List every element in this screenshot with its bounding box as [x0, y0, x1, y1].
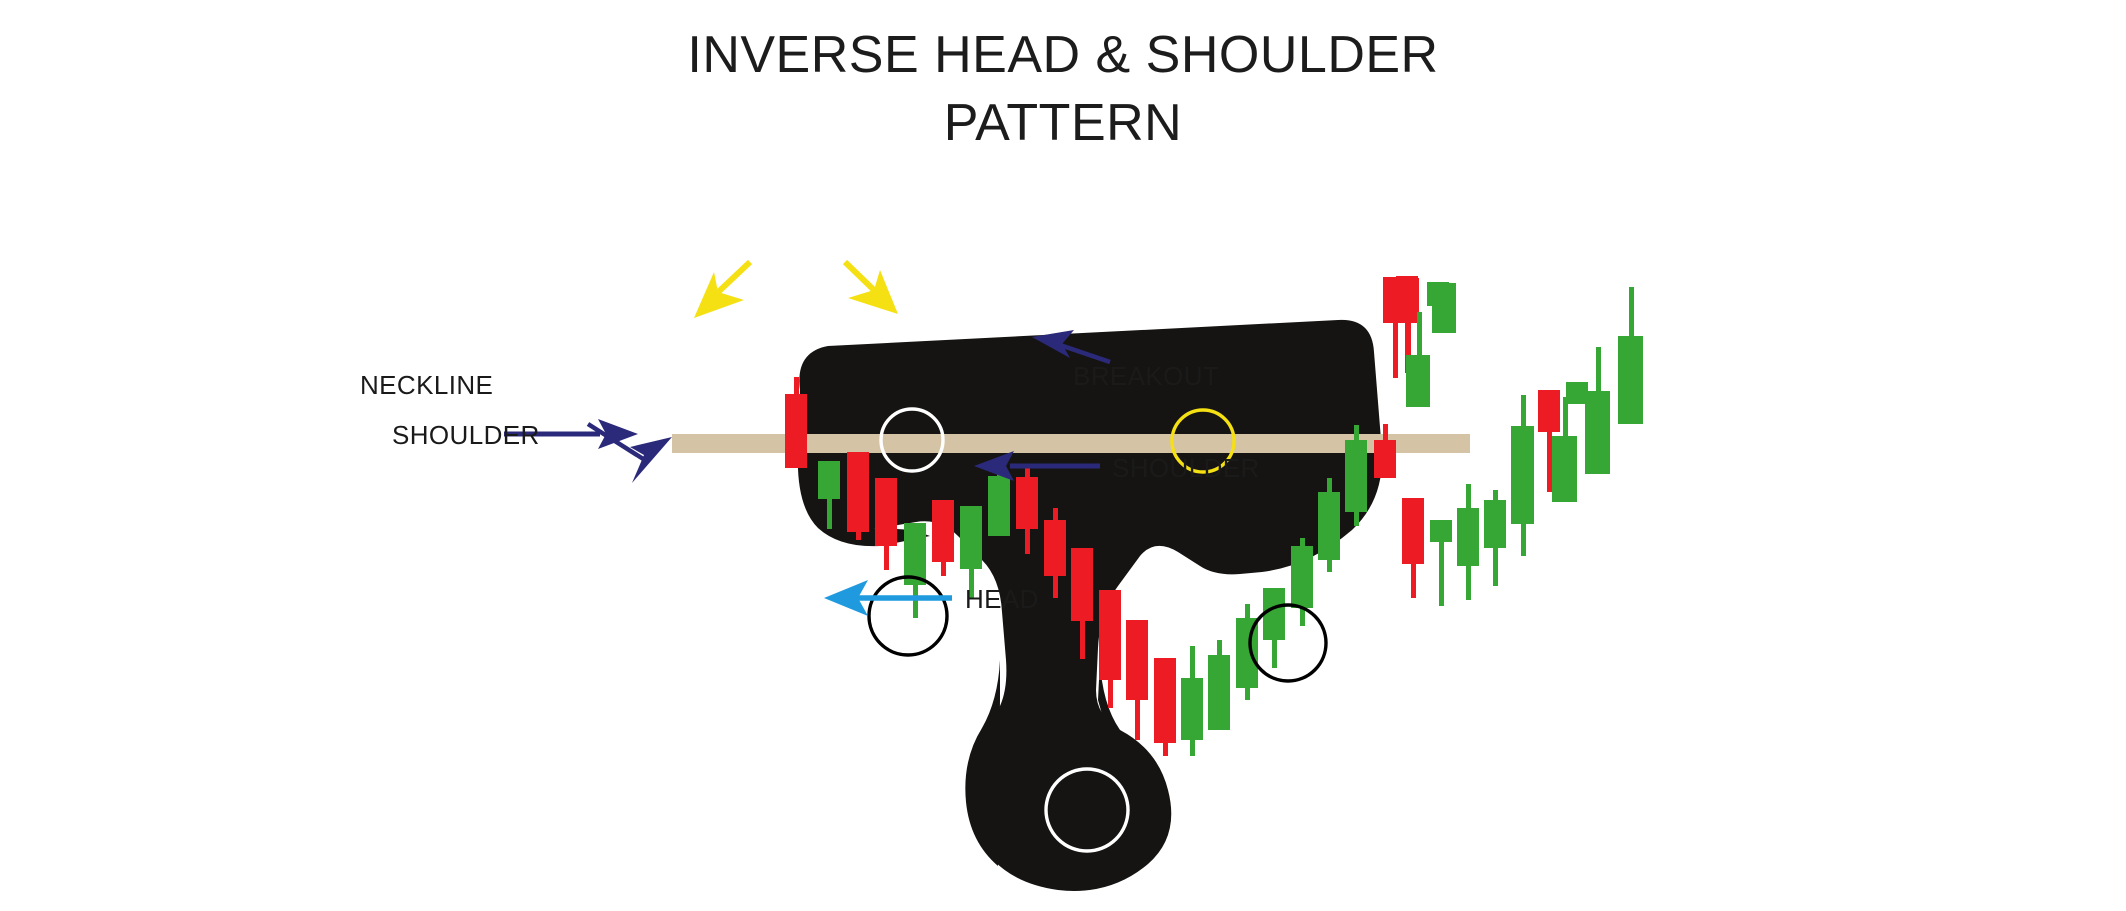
candle-breakout [1511, 395, 1534, 556]
resistance-label: RESISTANCE [789, 224, 972, 255]
shoulder-right-low-circle [1250, 605, 1326, 681]
candle [932, 500, 954, 576]
pattern-diagram: RESISTANCE NECKLINE BREAKOUT SHOULDER SH… [0, 0, 2126, 911]
far-rally [1552, 287, 1643, 502]
candle-body [1618, 336, 1643, 424]
candle [1566, 382, 1588, 404]
candle [1432, 283, 1456, 333]
candle-body [1552, 436, 1577, 502]
candle [1345, 425, 1367, 526]
candle [1484, 490, 1506, 586]
resistance-arrow-left [694, 262, 750, 318]
candle [1263, 588, 1285, 668]
candle [1181, 646, 1203, 756]
shoulder-right-label: SHOULDER [1112, 453, 1260, 483]
candle [1154, 658, 1176, 756]
candle [1430, 520, 1452, 606]
candle [875, 478, 897, 570]
candle [847, 452, 869, 540]
silhouette-head-left-bulge [965, 660, 1000, 866]
resistance-arrow-right [845, 262, 898, 314]
shoulder-left-label: SHOULDER [392, 420, 540, 450]
post-breakout-candles [1383, 277, 1456, 407]
candle-body [1585, 391, 1610, 474]
candle [1126, 620, 1148, 740]
candle [1383, 277, 1407, 378]
candle [1318, 478, 1340, 572]
shoulder-left-low-circle [869, 577, 947, 655]
candle-wick [1629, 287, 1634, 338]
candle [904, 523, 926, 618]
candle [1457, 484, 1479, 600]
candle [1402, 498, 1424, 598]
infographic-canvas: INVERSE HEAD & SHOULDER PATTERN [0, 0, 2126, 911]
candle-wick [1563, 397, 1568, 439]
neckline-label: NECKLINE [360, 370, 493, 400]
candle [1236, 604, 1258, 700]
candle-wick [1596, 347, 1601, 393]
head-label: HEAD [965, 584, 1039, 614]
candle [1208, 640, 1230, 730]
breakout-label: BREAKOUT [1073, 361, 1219, 391]
